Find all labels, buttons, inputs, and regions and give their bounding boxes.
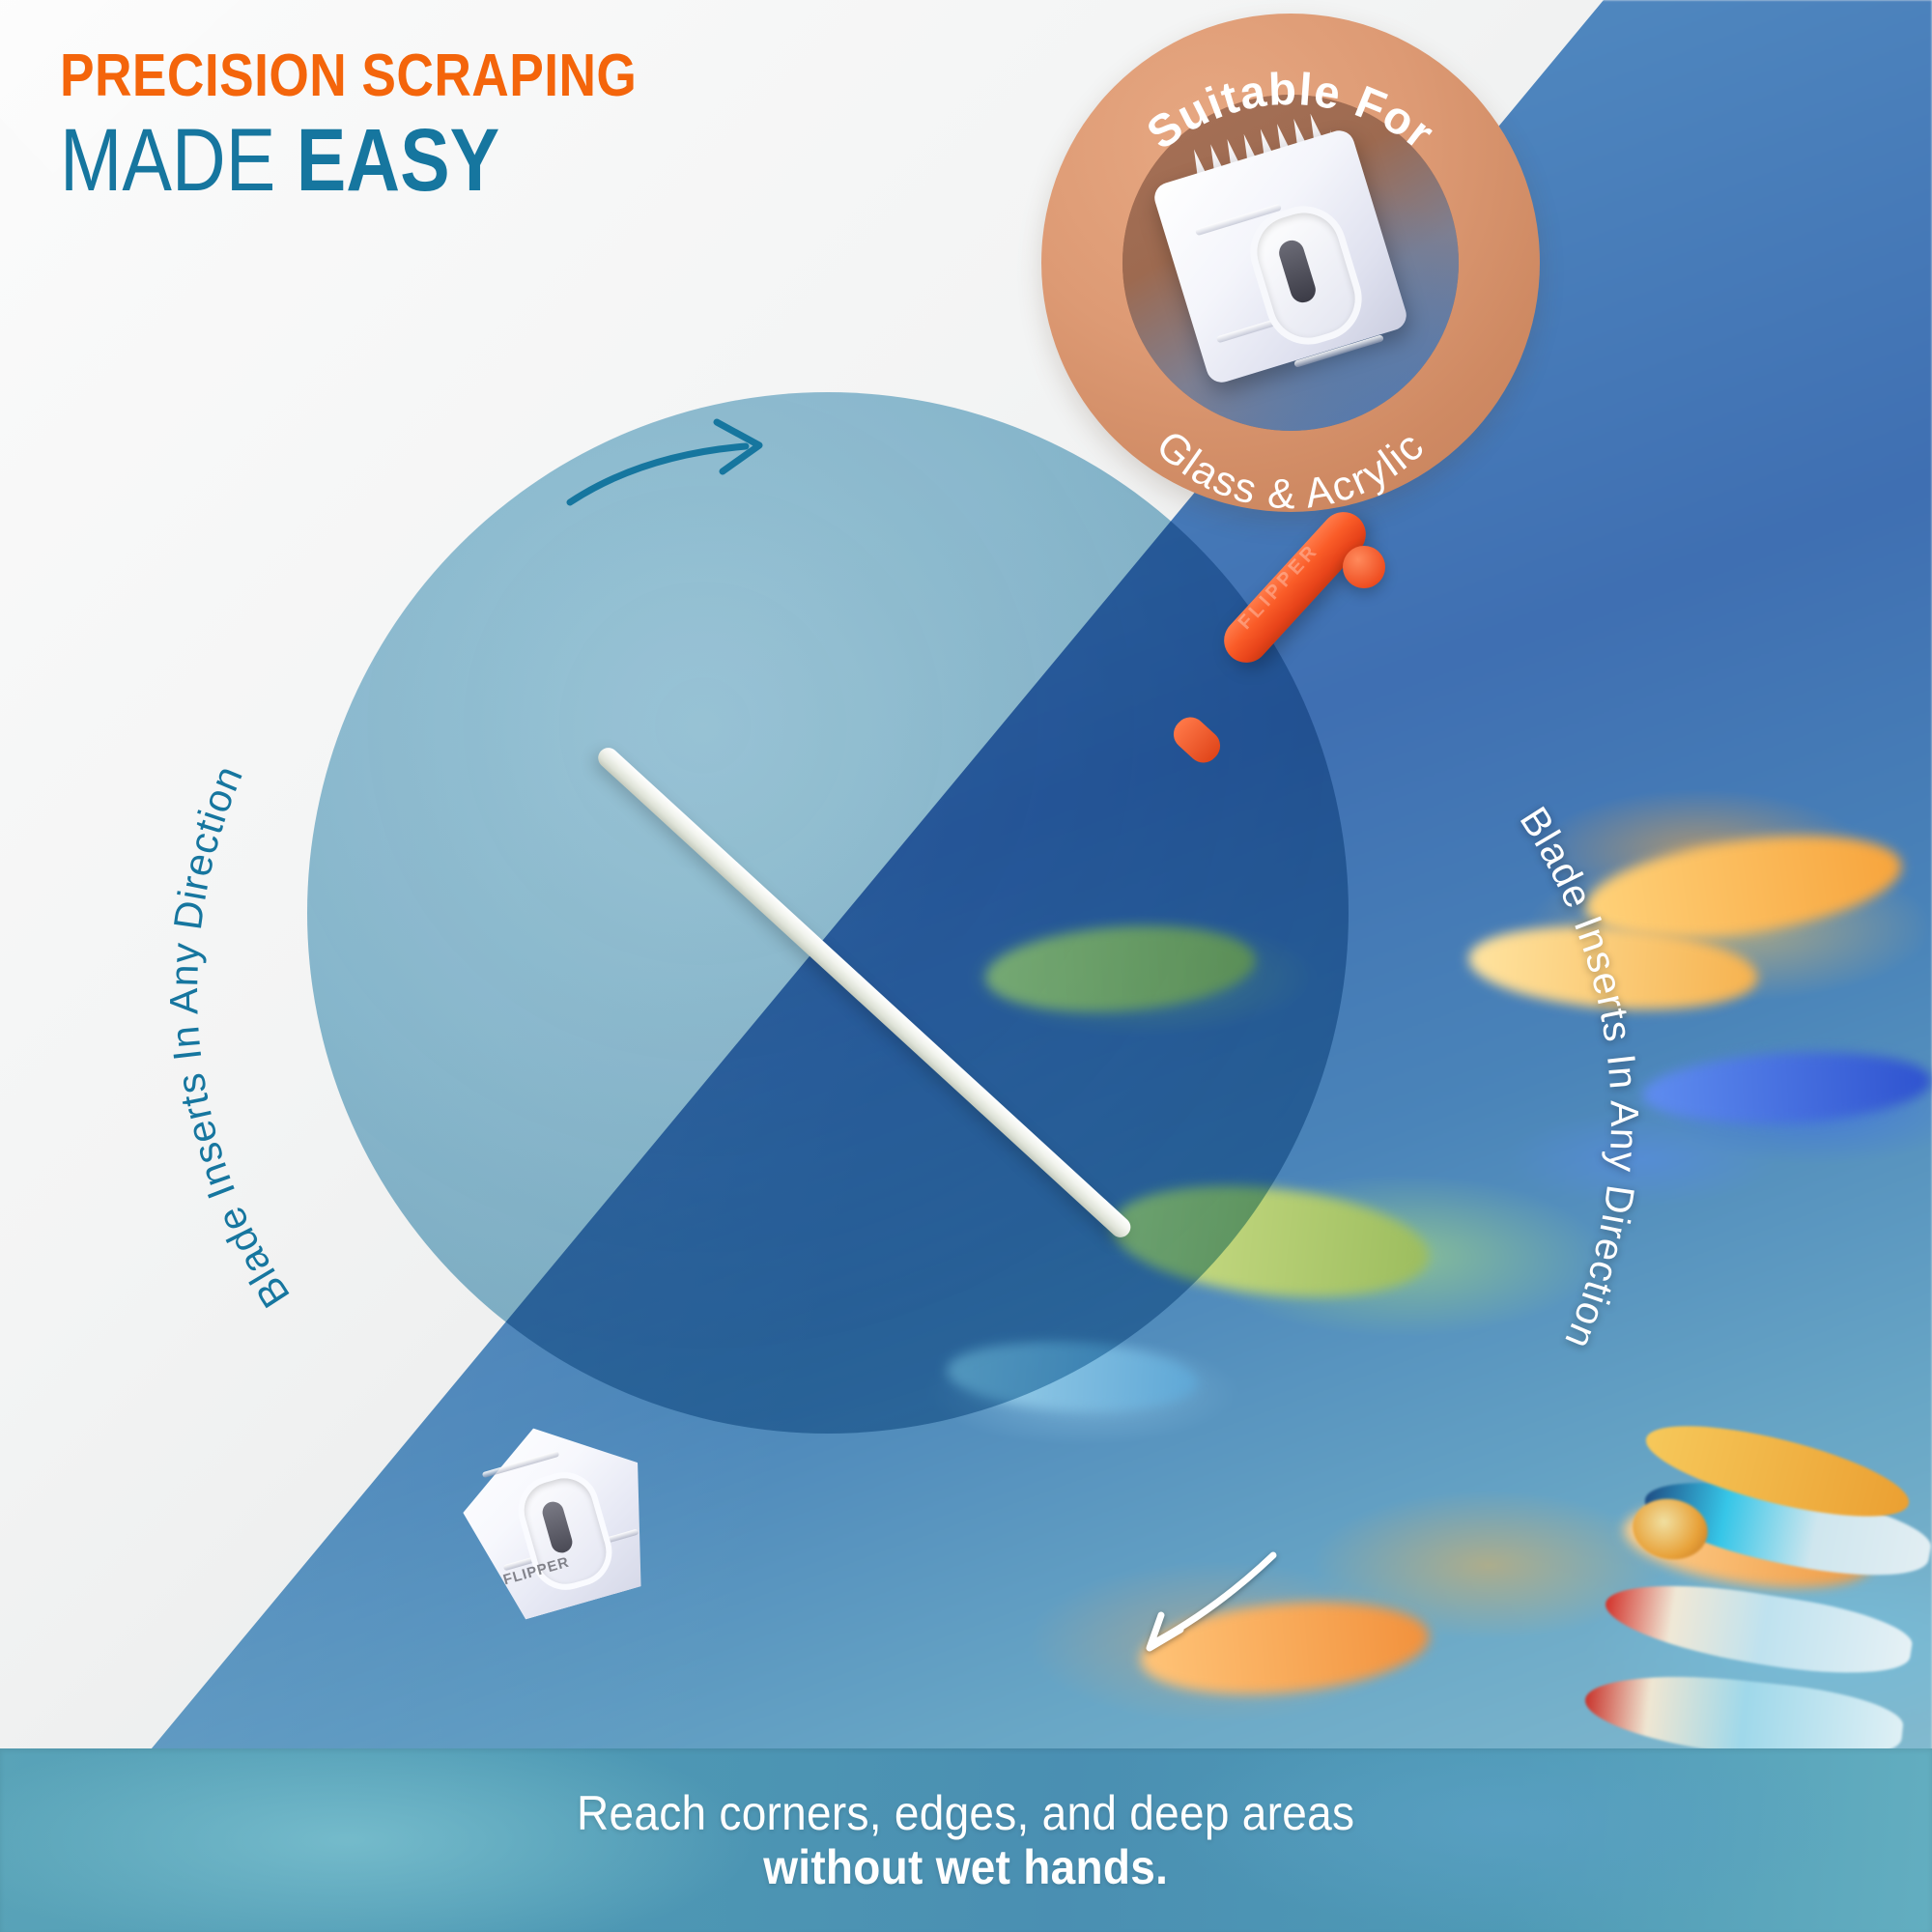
caption-line-1: Reach corners, edges, and deep areas (577, 1786, 1354, 1840)
product-infographic: PRECISION SCRAPING MADE EASY Blade Inser… (0, 0, 1932, 1932)
teal-highlight-circle (307, 392, 1349, 1434)
headline-easy: EASY (297, 111, 499, 210)
headline-line-2: MADE EASY (60, 116, 623, 205)
headline-made: MADE (60, 111, 297, 210)
bottom-caption-bar: Reach corners, edges, and deep areas wit… (0, 1748, 1932, 1932)
suitable-for-badge: Suitable For Glass & Acrylic (1041, 14, 1540, 512)
page-title: PRECISION SCRAPING MADE EASY (60, 46, 731, 205)
headline-line-1: PRECISION SCRAPING (60, 46, 637, 106)
caption-line-2: without wet hands. (764, 1840, 1169, 1894)
badge-inner-circle (1122, 95, 1459, 431)
